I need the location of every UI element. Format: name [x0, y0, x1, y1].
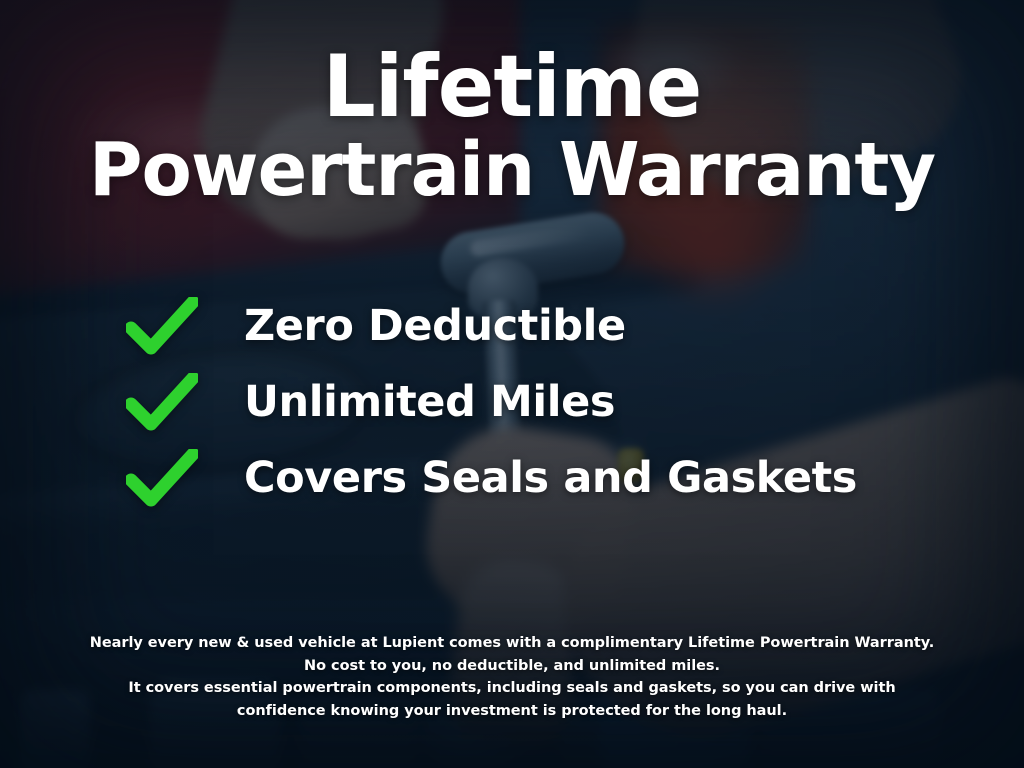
- banner-content: Lifetime Powertrain Warranty Zero Deduct…: [0, 0, 1024, 768]
- body-copy-line-4: confidence knowing your investment is pr…: [16, 700, 1008, 723]
- list-item: Unlimited Miles: [0, 364, 1024, 440]
- check-icon: [126, 449, 198, 507]
- check-icon: [126, 297, 198, 355]
- body-copy-line-2: No cost to you, no deductible, and unlim…: [16, 655, 1008, 678]
- page-title: Lifetime Powertrain Warranty: [0, 46, 1024, 206]
- list-item: Zero Deductible: [0, 288, 1024, 364]
- benefit-label-zero-deductible: Zero Deductible: [244, 301, 626, 351]
- benefits-list: Zero Deductible Unlimited Miles Covers S…: [0, 288, 1024, 516]
- body-copy-line-1: Nearly every new & used vehicle at Lupie…: [16, 632, 1008, 655]
- list-item: Covers Seals and Gaskets: [0, 440, 1024, 516]
- warranty-promo-banner: Lifetime Powertrain Warranty Zero Deduct…: [0, 0, 1024, 768]
- headline-line-2: Powertrain Warranty: [5, 135, 1019, 206]
- benefit-label-covers-seals-gaskets: Covers Seals and Gaskets: [244, 453, 857, 503]
- benefit-label-unlimited-miles: Unlimited Miles: [244, 377, 615, 427]
- check-icon: [126, 373, 198, 431]
- disclaimer-text: Nearly every new & used vehicle at Lupie…: [0, 632, 1024, 722]
- headline-line-1: Lifetime: [15, 46, 1008, 129]
- body-copy-line-3: It covers essential powertrain component…: [16, 677, 1008, 700]
